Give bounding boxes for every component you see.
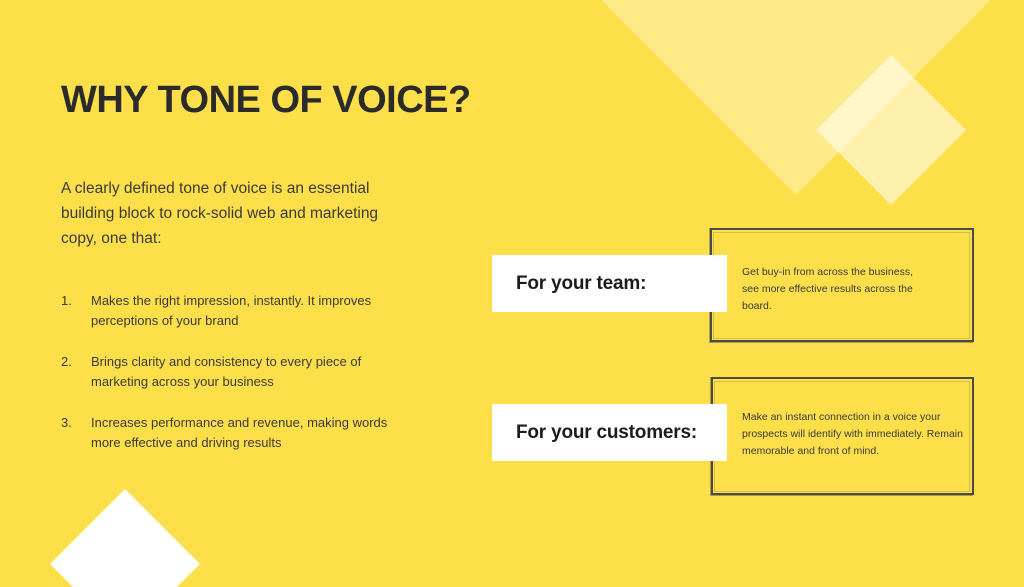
list-item: 1. Makes the right impression, instantly… xyxy=(61,291,481,352)
card-label-box: For your customers: xyxy=(492,404,727,461)
card-label-text: For your team: xyxy=(492,273,646,295)
list-item-number: 1. xyxy=(61,291,91,311)
list-item-number: 3. xyxy=(61,413,91,433)
left-content-column: WHY TONE OF VOICE? A clearly defined ton… xyxy=(61,80,481,474)
page-title: WHY TONE OF VOICE? xyxy=(61,80,481,122)
card-body-text: Make an instant connection in a voice yo… xyxy=(742,409,970,460)
diamond-large-icon xyxy=(602,0,989,195)
list-item-label: Brings clarity and consistency to every … xyxy=(91,352,401,392)
diamond-small-icon xyxy=(816,55,966,205)
diamond-bottom-left-icon xyxy=(50,489,200,587)
intro-paragraph: A clearly defined tone of voice is an es… xyxy=(61,122,401,251)
list-item-number: 2. xyxy=(61,352,91,372)
slide-canvas: WHY TONE OF VOICE? A clearly defined ton… xyxy=(0,0,1024,587)
list-item: 3. Increases performance and revenue, ma… xyxy=(61,413,481,474)
list-item-label: Increases performance and revenue, makin… xyxy=(91,413,401,453)
list-item: 2. Brings clarity and consistency to eve… xyxy=(61,352,481,413)
list-item-label: Makes the right impression, instantly. I… xyxy=(91,291,401,331)
card-label-box: For your team: xyxy=(492,255,727,312)
benefits-list: 1. Makes the right impression, instantly… xyxy=(61,251,481,474)
card-label-text: For your customers: xyxy=(492,422,697,444)
card-body-text: Get buy-in from across the business, see… xyxy=(742,264,927,315)
